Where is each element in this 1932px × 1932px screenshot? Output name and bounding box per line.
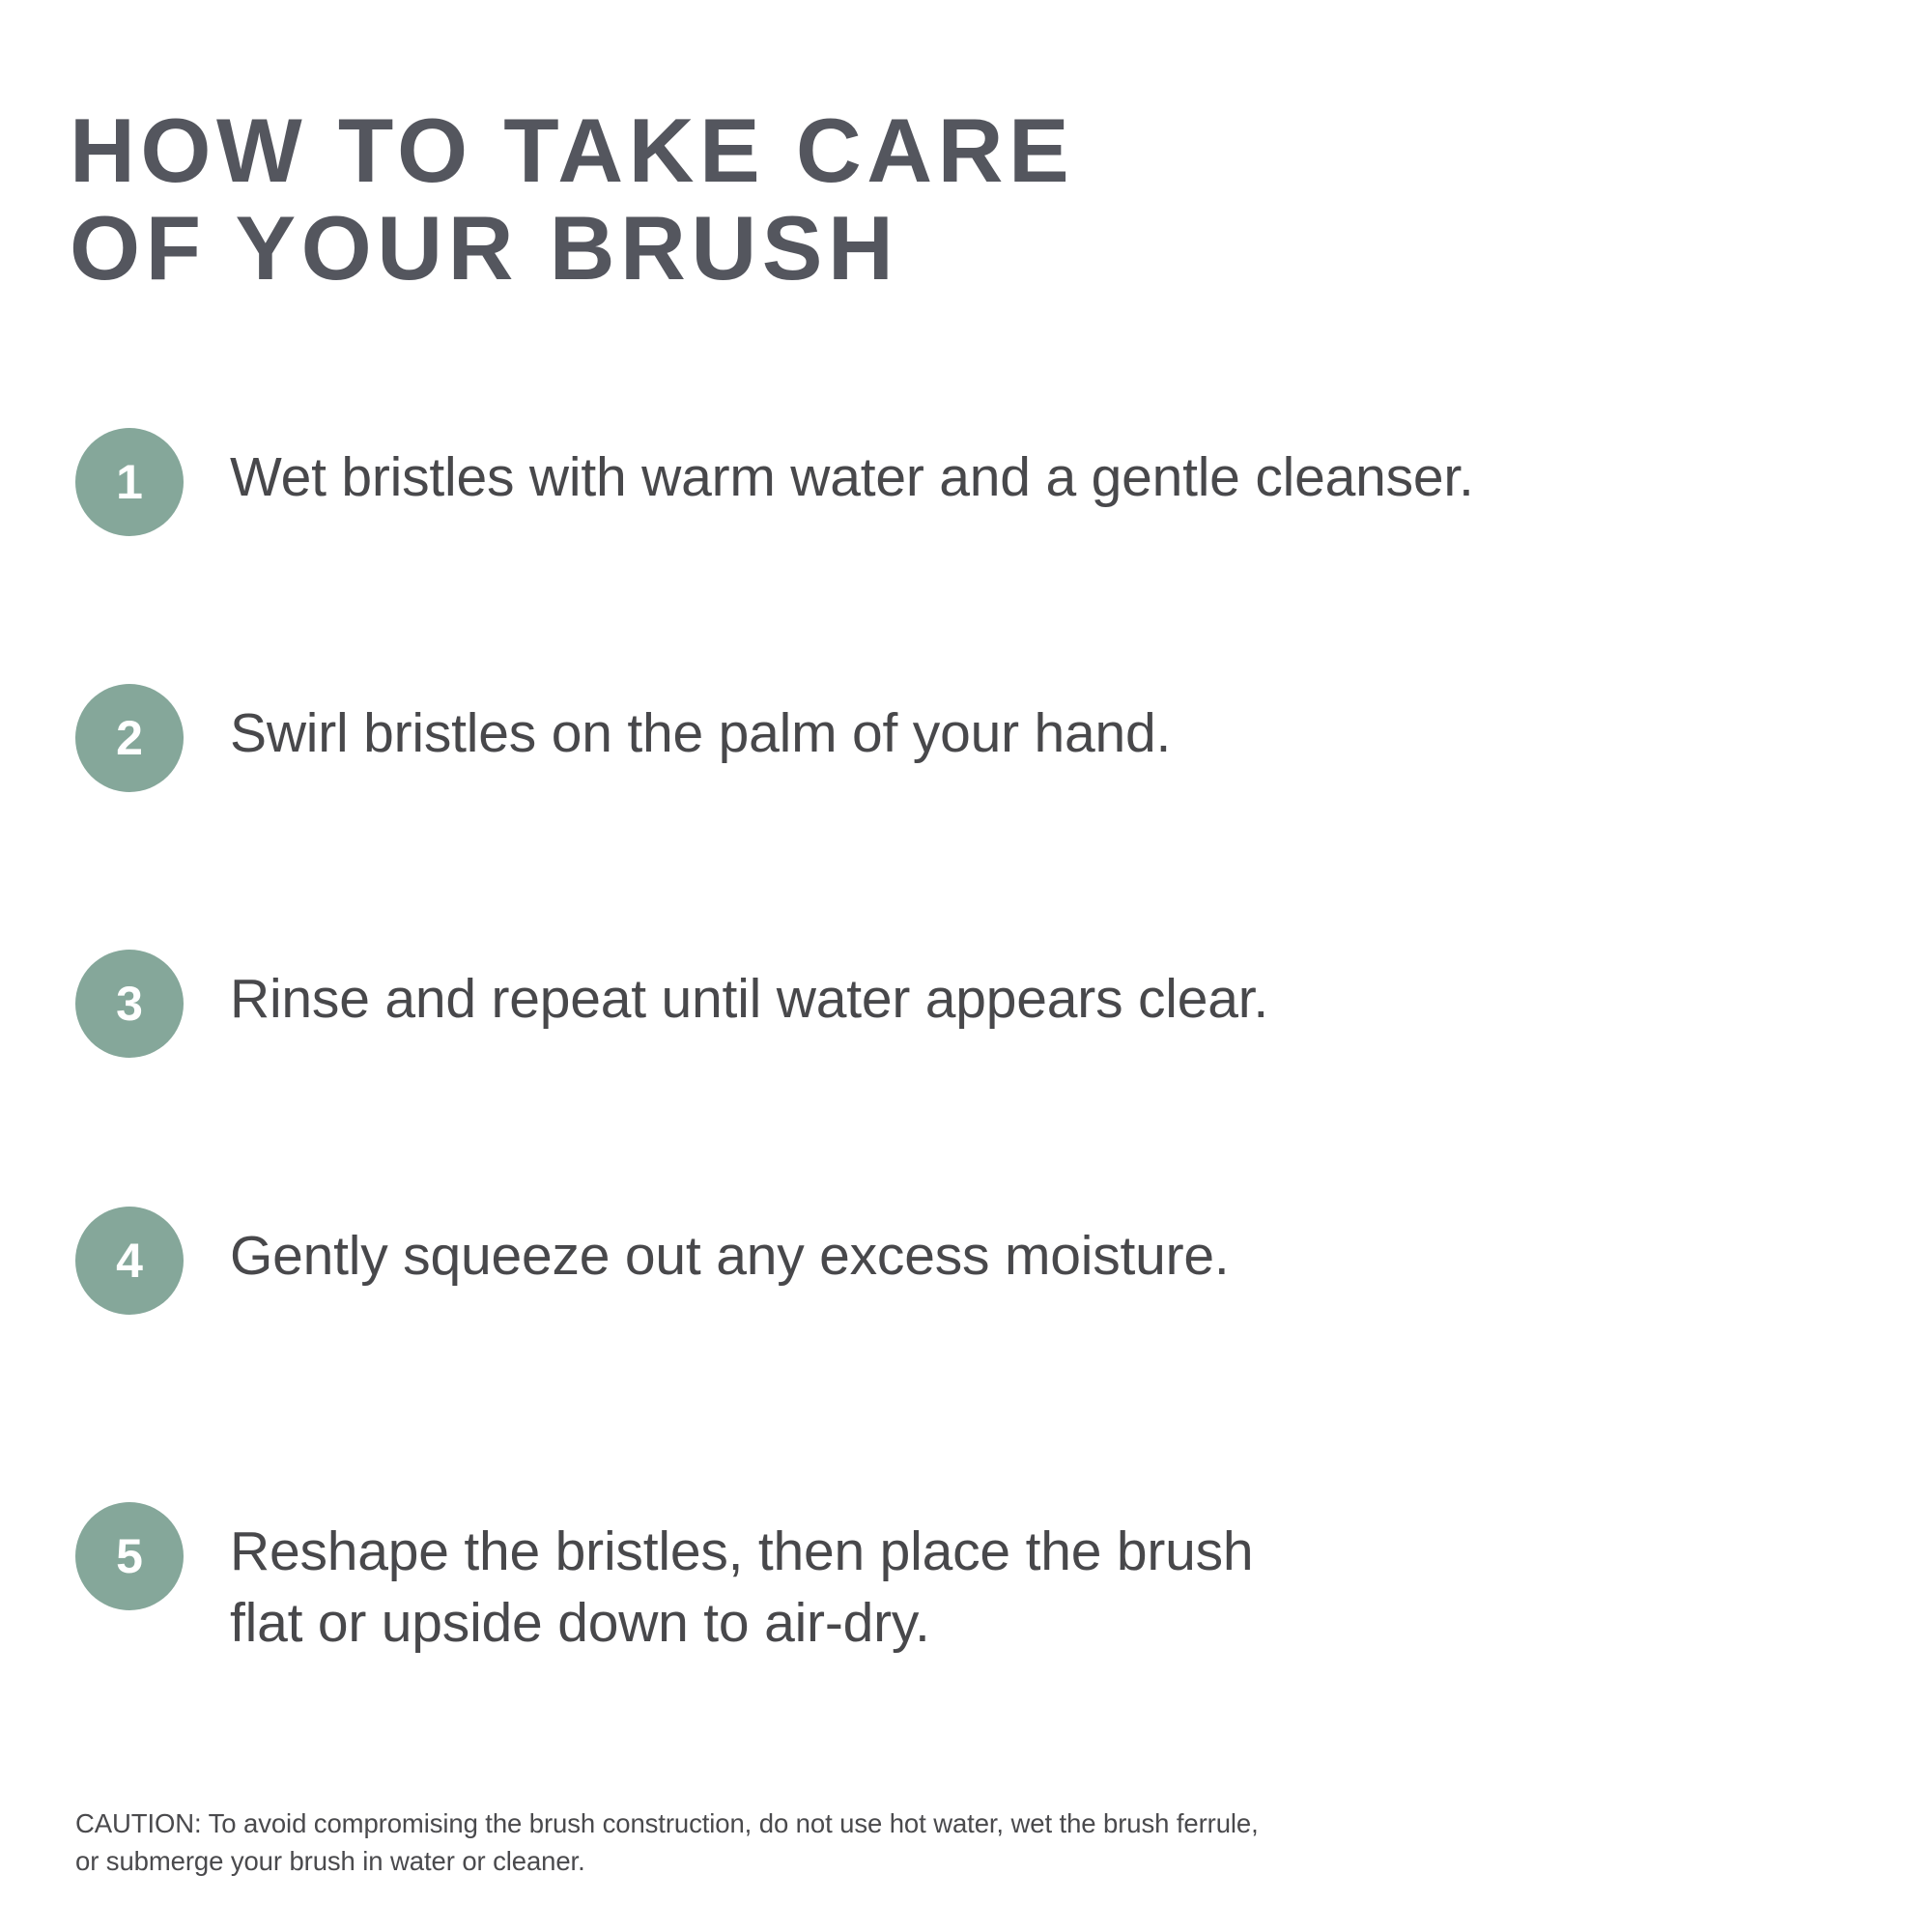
list-item: 1 Wet bristles with warm water and a gen… xyxy=(75,428,1872,536)
brush-care-instruction-card: HOW TO TAKE CARE OF YOUR BRUSH 1 Wet bri… xyxy=(0,0,1932,1932)
step-text-5: Reshape the bristles, then place the bru… xyxy=(230,1502,1872,1659)
list-item: 3 Rinse and repeat until water appears c… xyxy=(75,950,1872,1058)
page-title: HOW TO TAKE CARE OF YOUR BRUSH xyxy=(70,101,1615,298)
step-text-2: Swirl bristles on the palm of your hand. xyxy=(230,684,1872,769)
step-number-badge-4: 4 xyxy=(75,1207,184,1315)
step-text-1: Wet bristles with warm water and a gentl… xyxy=(230,428,1872,513)
step-text-4: Gently squeeze out any excess moisture. xyxy=(230,1207,1872,1292)
step-number-badge-3: 3 xyxy=(75,950,184,1058)
caution-note: CAUTION: To avoid compromising the brush… xyxy=(75,1804,1853,1880)
step-number-badge-5: 5 xyxy=(75,1502,184,1610)
list-item: 4 Gently squeeze out any excess moisture… xyxy=(75,1207,1872,1315)
list-item: 5 Reshape the bristles, then place the b… xyxy=(75,1502,1872,1659)
step-text-3: Rinse and repeat until water appears cle… xyxy=(230,950,1872,1035)
step-number-badge-1: 1 xyxy=(75,428,184,536)
step-number-badge-2: 2 xyxy=(75,684,184,792)
list-item: 2 Swirl bristles on the palm of your han… xyxy=(75,684,1872,792)
